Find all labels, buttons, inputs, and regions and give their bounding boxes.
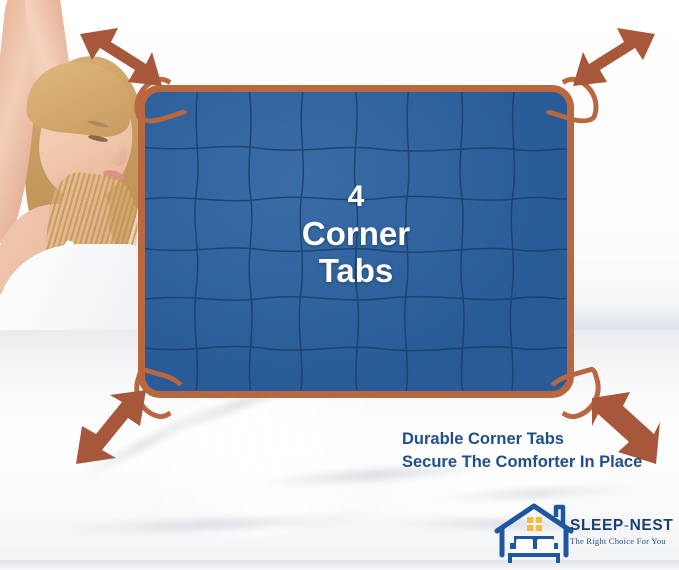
- product-image-canvas: 4 Corner Tabs Durable Corner Tabs Secure…: [0, 0, 679, 570]
- arrow-bottom-left: [72, 390, 180, 468]
- comforter-stitch-grid: [145, 92, 567, 391]
- brand-logo: SLEEP-NEST The Right Choice For You: [494, 503, 674, 565]
- house-with-bed-icon: [494, 503, 578, 563]
- arrow-top-left: [78, 20, 178, 100]
- arrow-top-right: [553, 20, 657, 100]
- blue-comforter: [138, 85, 574, 398]
- brand-name: SLEEP-NEST: [570, 517, 676, 535]
- caption-line-1: Durable Corner Tabs: [402, 428, 642, 451]
- brand-text: SLEEP-NEST The Right Choice For You: [570, 517, 676, 546]
- caption-block: Durable Corner Tabs Secure The Comforter…: [402, 428, 642, 475]
- caption-line-2: Secure The Comforter In Place: [402, 451, 642, 474]
- brand-tagline: The Right Choice For You: [570, 536, 676, 546]
- brand-name-part1: SLEEP: [570, 517, 624, 534]
- brand-name-part2: NEST: [630, 517, 674, 534]
